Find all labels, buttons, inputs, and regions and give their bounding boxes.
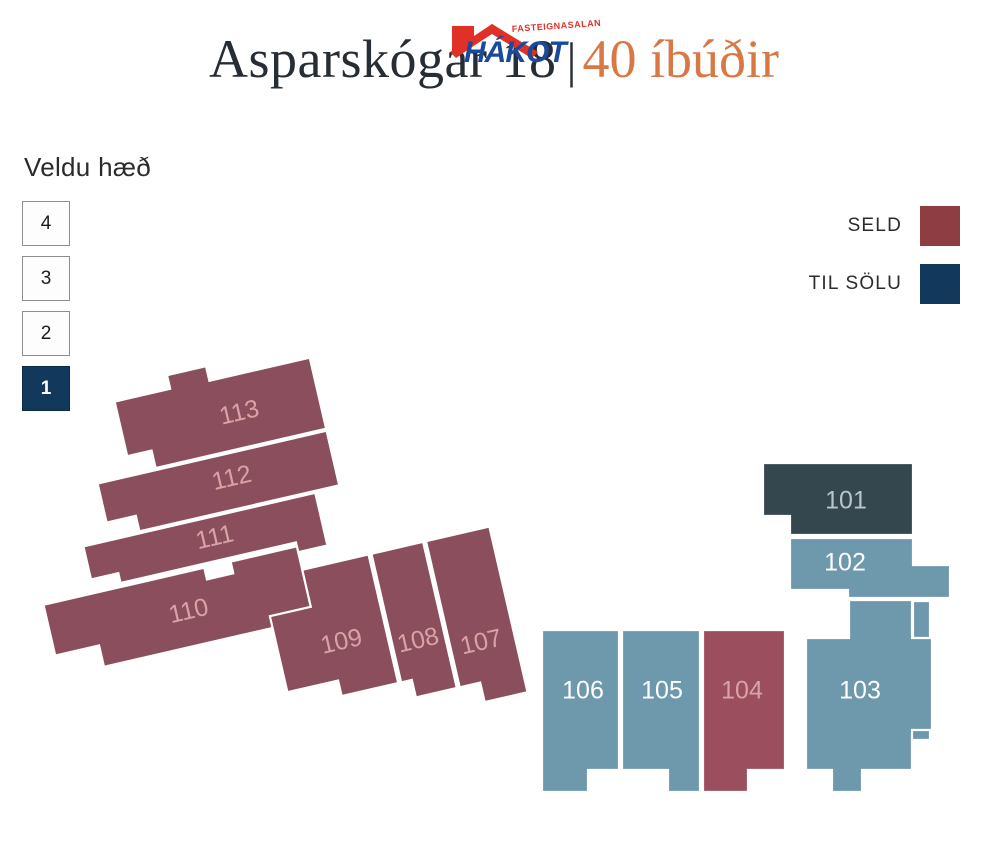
floorplan-map: 113 112 111 110 109 108 107 [0,320,988,840]
unit-103-shape-body[interactable] [806,600,932,792]
legend-item-sold: SELD [770,206,960,246]
unit-101-shape[interactable] [763,463,913,535]
floor-button-4[interactable]: 4 [22,201,70,246]
unit-104-shape[interactable] [703,630,785,792]
floor-button-3[interactable]: 3 [22,256,70,301]
floorplan-page: Asparskógar 18|40 íbúðir FASTEIGNASALAN … [0,0,988,867]
legend-swatch-available [920,264,960,304]
hakot-logo[interactable]: FASTEIGNASALAN HÁKOT [440,18,608,74]
page-header: Asparskógar 18|40 íbúðir FASTEIGNASALAN … [0,0,988,118]
legend-label-available: TIL SÖLU [809,273,902,295]
legend-label-sold: SELD [848,215,902,237]
unit-105-shape[interactable] [622,630,700,792]
logo-tagline-text: FASTEIGNASALAN [511,18,601,34]
unit-count-text: 40 íbúðir [582,29,779,89]
legend-item-available: TIL SÖLU [770,264,960,304]
west-building: 113 112 111 110 109 108 107 [0,320,528,794]
legend-swatch-sold [920,206,960,246]
logo-brand-text: HÁKOT [464,35,569,69]
east-building: 101 102 103 104 105 106 [542,463,950,792]
unit-102-shape[interactable] [790,538,950,598]
floor-selector-title: Veldu hæð [24,152,151,183]
unit-106-shape[interactable] [542,630,619,792]
status-legend: SELD TIL SÖLU [770,206,960,322]
